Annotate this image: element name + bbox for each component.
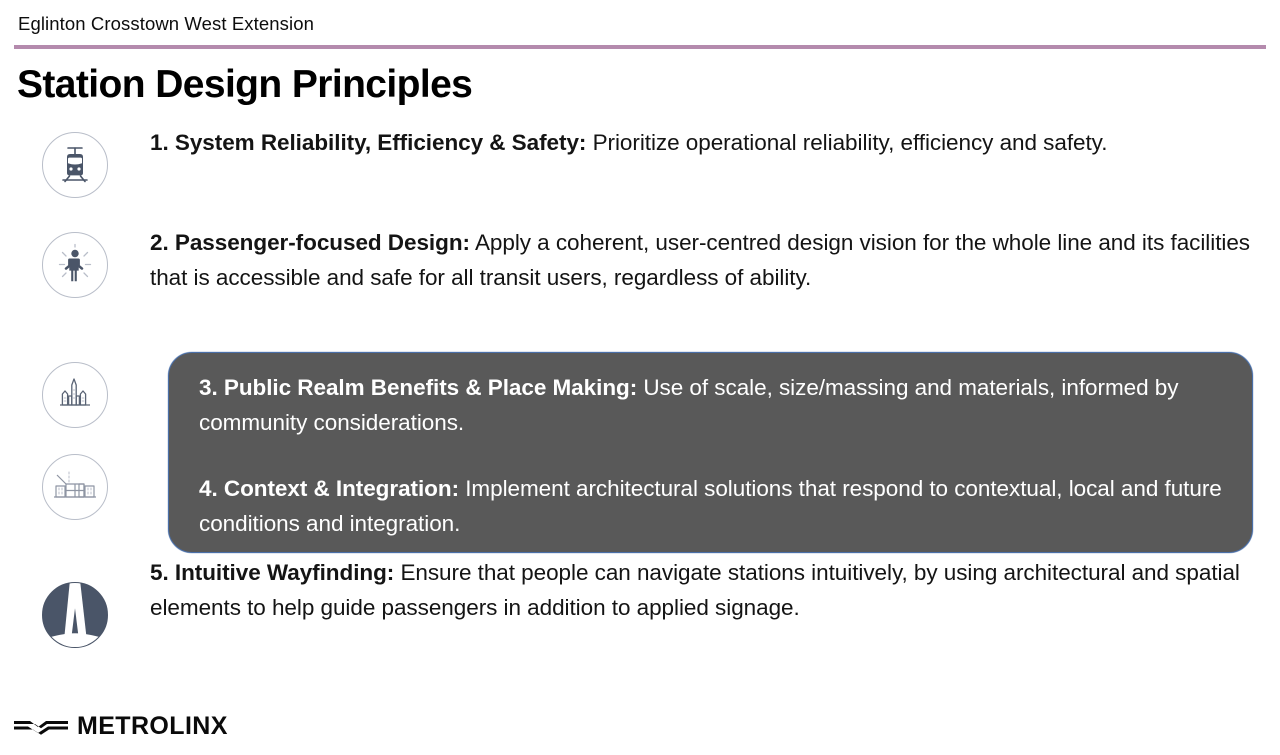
standing-person-icon	[42, 232, 108, 298]
principle-row-3	[0, 348, 1280, 448]
page-title: Station Design Principles	[17, 62, 472, 108]
principle-lead: Passenger-focused Design:	[175, 230, 470, 255]
principle-icon-cell	[0, 126, 150, 198]
pathway-wayfinding-icon	[42, 582, 108, 648]
principle-row-4	[0, 448, 1280, 556]
principle-body: Prioritize operational reliability, effi…	[593, 130, 1108, 155]
header-divider-rule	[14, 45, 1266, 49]
slide-canvas: { "header": { "eyebrow": "Eglinton Cross…	[0, 0, 1280, 755]
building-facade-icon	[42, 454, 108, 520]
principle-lead: System Reliability, Efficiency & Safety:	[175, 130, 586, 155]
principle-icon-cell	[0, 556, 150, 648]
principle-number: 5.	[150, 560, 169, 585]
city-skyline-icon	[42, 362, 108, 428]
metrolinx-wordmark: METROLINX	[77, 714, 228, 739]
principle-row-5: 5. Intuitive Wayfinding: Ensure that peo…	[0, 556, 1280, 666]
metrolinx-logo: METROLINX	[14, 714, 228, 739]
station-design-principles-list: 1. System Reliability, Efficiency & Safe…	[0, 126, 1280, 666]
principle-icon-cell	[0, 448, 150, 520]
principle-number: 1.	[150, 130, 169, 155]
train-front-icon	[42, 132, 108, 198]
project-name-eyebrow: Eglinton Crosstown West Extension	[18, 13, 314, 35]
principle-row-1: 1. System Reliability, Efficiency & Safe…	[0, 126, 1280, 226]
principle-lead: Intuitive Wayfinding:	[175, 560, 394, 585]
principle-text-cell: 5. Intuitive Wayfinding: Ensure that peo…	[150, 556, 1280, 625]
principle-row-2: 2. Passenger-focused Design: Apply a coh…	[0, 226, 1280, 348]
principle-icon-cell	[0, 348, 150, 428]
principle-number: 2.	[150, 230, 169, 255]
principle-text-cell: 1. System Reliability, Efficiency & Safe…	[150, 126, 1280, 161]
metrolinx-crossing-lines-mark	[14, 715, 68, 739]
principle-text-cell: 2. Passenger-focused Design: Apply a coh…	[150, 226, 1280, 295]
principle-icon-cell	[0, 226, 150, 298]
